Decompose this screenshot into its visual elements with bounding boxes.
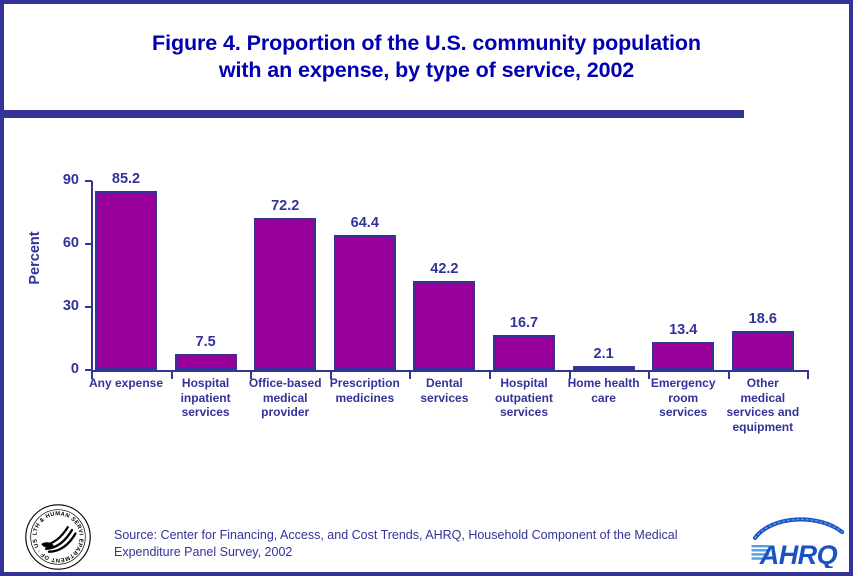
category-label-line: medical xyxy=(720,391,806,406)
y-axis-tick xyxy=(85,243,92,245)
x-axis-category-label: Dentalservices xyxy=(401,376,487,405)
bar-value-label: 18.6 xyxy=(723,312,803,327)
category-label-line: Office-based xyxy=(242,376,328,391)
figure-page: Figure 4. Proportion of the U.S. communi… xyxy=(0,0,853,576)
bar xyxy=(334,235,396,370)
source-line-1: Source: Center for Financing, Access, an… xyxy=(114,527,739,544)
category-label-line: medicines xyxy=(322,391,408,406)
bar xyxy=(652,342,714,370)
category-label-line: services xyxy=(640,405,726,420)
x-axis-category-label: Hospitaloutpatientservices xyxy=(481,376,567,420)
bar-value-label: 7.5 xyxy=(166,335,246,350)
category-label-line: care xyxy=(561,391,647,406)
bar-value-label: 64.4 xyxy=(325,216,405,231)
y-axis-tick-label: 30 xyxy=(39,299,79,313)
x-axis-category-label: Hospitalinpatientservices xyxy=(163,376,249,420)
category-label-line: services xyxy=(481,405,567,420)
x-axis-category-label: Prescriptionmedicines xyxy=(322,376,408,405)
category-label-line: Hospital xyxy=(481,376,567,391)
category-label-line: provider xyxy=(242,405,328,420)
category-label-line: Prescription xyxy=(322,376,408,391)
x-axis-category-label: Home healthcare xyxy=(561,376,647,405)
y-axis-tick-label: 90 xyxy=(39,173,79,187)
category-label-line: outpatient xyxy=(481,391,567,406)
bar xyxy=(573,366,635,370)
source-line-2: Expenditure Panel Survey, 2002 xyxy=(114,544,739,561)
bar-value-label: 2.1 xyxy=(564,347,644,362)
x-axis-category-label: Emergencyroomservices xyxy=(640,376,726,420)
bar xyxy=(95,191,157,370)
y-axis-tick xyxy=(85,369,92,371)
bar xyxy=(175,354,237,370)
category-label-line: Any expense xyxy=(83,376,169,391)
category-label-line: room xyxy=(640,391,726,406)
category-label-line: equipment xyxy=(720,420,806,435)
category-label-line: Emergency xyxy=(640,376,726,391)
bar xyxy=(254,218,316,370)
x-axis-category-label: Othermedicalservices andequipment xyxy=(720,376,806,434)
source-note: Source: Center for Financing, Access, an… xyxy=(114,527,739,561)
bar-value-label: 72.2 xyxy=(245,199,325,214)
bar-chart: Percent 0306090 85.27.572.264.442.216.72… xyxy=(4,4,853,576)
x-axis-category-label: Any expense xyxy=(83,376,169,391)
bar-value-label: 85.2 xyxy=(86,172,166,187)
category-label-line: services xyxy=(401,391,487,406)
category-label-line: Hospital xyxy=(163,376,249,391)
y-axis-tick-label: 60 xyxy=(39,236,79,250)
category-label-line: services and xyxy=(720,405,806,420)
y-axis-line xyxy=(91,181,93,372)
bar xyxy=(413,281,475,370)
category-label-line: services xyxy=(163,405,249,420)
category-label-line: inpatient xyxy=(163,391,249,406)
x-axis-tick xyxy=(807,372,809,379)
bar-value-label: 16.7 xyxy=(484,316,564,331)
bar xyxy=(493,335,555,370)
x-axis-category-label: Office-basedmedicalprovider xyxy=(242,376,328,420)
y-axis-title: Percent xyxy=(27,208,43,308)
bar-value-label: 42.2 xyxy=(404,262,484,277)
bar-value-label: 13.4 xyxy=(643,323,723,338)
svg-text:AHRQ: AHRQ xyxy=(759,540,838,568)
category-label-line: medical xyxy=(242,391,328,406)
category-label-line: Home health xyxy=(561,376,647,391)
ahrq-logo: AHRQ xyxy=(748,512,848,568)
y-axis-tick xyxy=(85,306,92,308)
category-label-line: Other xyxy=(720,376,806,391)
x-axis-line xyxy=(91,370,809,372)
category-label-line: Dental xyxy=(401,376,487,391)
y-axis-tick-label: 0 xyxy=(39,362,79,376)
hhs-seal-logo: HEALTH & HUMAN SERVICES DEPARTMENT OF · … xyxy=(20,502,96,572)
bar xyxy=(732,331,794,370)
